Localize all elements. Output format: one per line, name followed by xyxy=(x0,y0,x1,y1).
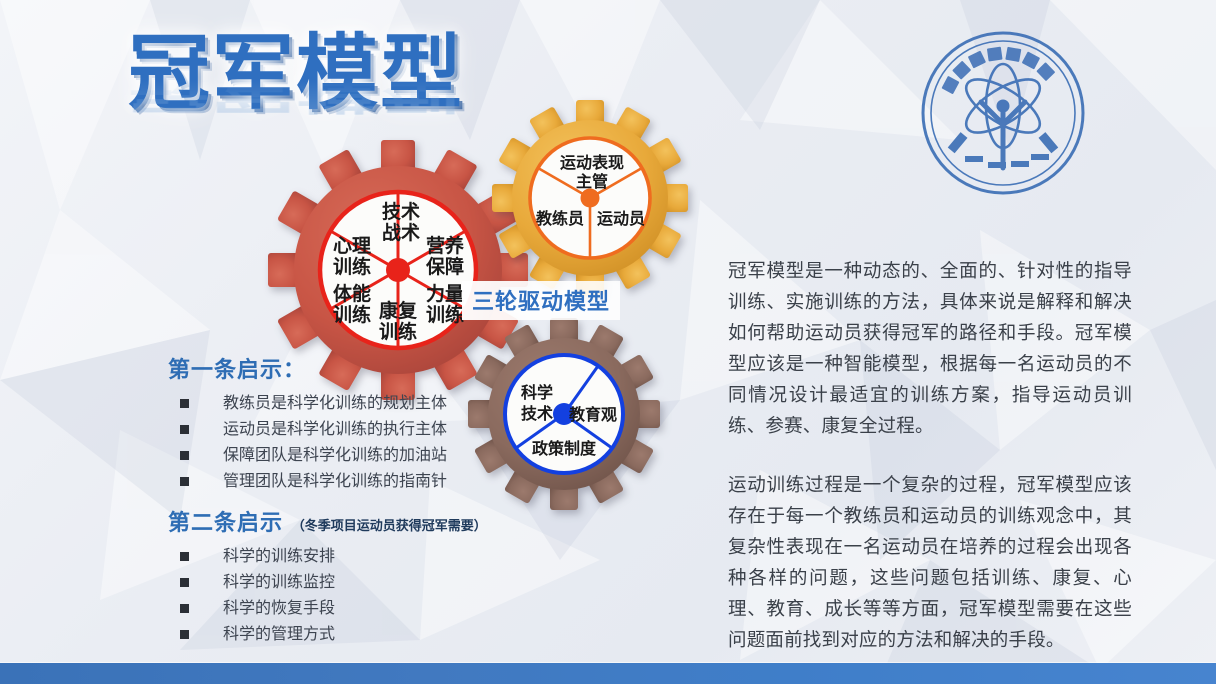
gear-environment: 科学技术 教育观 政策制度 xyxy=(468,318,660,510)
slide-canvas: 冠军模型 冠军模型 xyxy=(0,0,1216,684)
list-item: 科学的训练监控 xyxy=(168,569,487,595)
list-item: 管理团队是科学化训练的指南针 xyxy=(168,468,447,494)
svg-text:训练: 训练 xyxy=(333,255,371,278)
list-item-label: 运动员是科学化训练的执行主体 xyxy=(223,416,447,442)
square-bullet-icon xyxy=(180,451,189,460)
square-bullet-icon xyxy=(180,630,189,639)
insight-2-heading-note: （冬季项目运动员获得冠军需要） xyxy=(292,519,487,534)
svg-text:力量: 力量 xyxy=(426,282,464,305)
svg-text:体能: 体能 xyxy=(333,282,371,305)
square-bullet-icon xyxy=(180,578,189,587)
insight-block-1: 第一条启示： 教练员是科学化训练的规划主体 运动员是科学化训练的执行主体 保障团… xyxy=(168,352,447,494)
square-bullet-icon xyxy=(180,399,189,408)
svg-text:技术: 技术 xyxy=(521,404,553,423)
svg-text:技术: 技术 xyxy=(382,200,420,223)
list-item-label: 科学的管理方式 xyxy=(223,621,335,647)
three-wheel-drive-label: 三轮驱动模型 xyxy=(462,281,620,320)
insight-2-list: 科学的训练安排 科学的训练监控 科学的恢复手段 科学的管理方式 xyxy=(168,543,487,647)
gear-red-seg-physical: 体能训练 xyxy=(333,282,371,326)
list-item-label: 科学的训练监控 xyxy=(223,569,335,595)
svg-text:保障: 保障 xyxy=(425,255,464,278)
svg-text:战术: 战术 xyxy=(382,222,420,244)
svg-text:心理: 心理 xyxy=(333,235,371,257)
gear-brown-seg-policy-system: 政策制度 xyxy=(532,439,597,458)
list-item-label: 科学的恢复手段 xyxy=(223,595,335,621)
list-item: 科学的恢复手段 xyxy=(168,595,487,621)
svg-text:营养: 营养 xyxy=(426,234,464,257)
svg-text:教练员: 教练员 xyxy=(536,209,584,228)
svg-text:训练: 训练 xyxy=(333,303,371,326)
gear-roles: 运动表现主管 教练员 运动员 xyxy=(492,100,688,296)
gear-orange-seg-athlete: 运动员 xyxy=(597,209,645,228)
svg-text:运动员: 运动员 xyxy=(597,209,645,228)
list-item-label: 科学的训练安排 xyxy=(223,543,335,569)
square-bullet-icon xyxy=(180,425,189,434)
gear-red-seg-rehab: 康复训练 xyxy=(379,299,418,343)
gear-orange-seg-coach: 教练员 xyxy=(536,209,584,228)
insight-block-2: 第二条启示 （冬季项目运动员获得冠军需要） 科学的训练安排 科学的训练监控 科学… xyxy=(168,505,487,647)
svg-text:训练: 训练 xyxy=(379,320,417,343)
svg-text:运动表现: 运动表现 xyxy=(560,153,624,172)
svg-text:教育观: 教育观 xyxy=(569,405,617,424)
svg-text:主管: 主管 xyxy=(576,172,608,191)
description-text: 冠军模型是一种动态的、全面的、针对性的指导训练、实施训练的方法，具体来说是解释和… xyxy=(728,256,1132,656)
list-item: 教练员是科学化训练的规划主体 xyxy=(168,390,447,416)
svg-text:训练: 训练 xyxy=(426,303,464,326)
description-paragraph-1: 冠军模型是一种动态的、全面的、针对性的指导训练、实施训练的方法，具体来说是解释和… xyxy=(728,256,1132,442)
list-item: 运动员是科学化训练的执行主体 xyxy=(168,416,447,442)
square-bullet-icon xyxy=(180,552,189,561)
gear-red-seg-tech-tactics: 技术战术 xyxy=(382,200,420,244)
list-item: 保障团队是科学化训练的加油站 xyxy=(168,442,447,468)
gear-brown-seg-education-view: 教育观 xyxy=(569,405,617,424)
page-title: 冠军模型 冠军模型 xyxy=(128,28,548,158)
insight-2-heading-text: 第二条启示 xyxy=(168,511,283,536)
insight-1-heading: 第一条启示： xyxy=(168,352,447,384)
description-paragraph-2: 运动训练过程是一个复杂的过程，冠军模型应该存在于每一个教练员和运动员的训练观念中… xyxy=(728,470,1132,656)
list-item: 科学的训练安排 xyxy=(168,543,487,569)
square-bullet-icon xyxy=(180,477,189,486)
gear-red-seg-strength: 力量训练 xyxy=(426,282,464,326)
list-item-label: 保障团队是科学化训练的加油站 xyxy=(223,442,447,468)
svg-text:政策制度: 政策制度 xyxy=(532,439,597,458)
list-item-label: 教练员是科学化训练的规划主体 xyxy=(223,390,447,416)
organization-logo xyxy=(918,28,1088,198)
insight-1-heading-text: 第一条启示： xyxy=(168,358,306,383)
footer-bar xyxy=(0,663,1216,684)
page-title-reflection: 冠军模型 xyxy=(128,65,548,116)
insight-1-list: 教练员是科学化训练的规划主体 运动员是科学化训练的执行主体 保障团队是科学化训练… xyxy=(168,390,447,494)
gear-red-seg-nutrition: 营养保障 xyxy=(425,234,464,278)
list-item: 科学的管理方式 xyxy=(168,621,487,647)
list-item-label: 管理团队是科学化训练的指南针 xyxy=(223,468,447,494)
svg-text:康复: 康复 xyxy=(379,299,418,322)
svg-text:科学: 科学 xyxy=(521,383,553,402)
square-bullet-icon xyxy=(180,604,189,613)
gear-red-seg-psychology: 心理训练 xyxy=(333,235,371,278)
insight-2-heading: 第二条启示 （冬季项目运动员获得冠军需要） xyxy=(168,505,487,537)
